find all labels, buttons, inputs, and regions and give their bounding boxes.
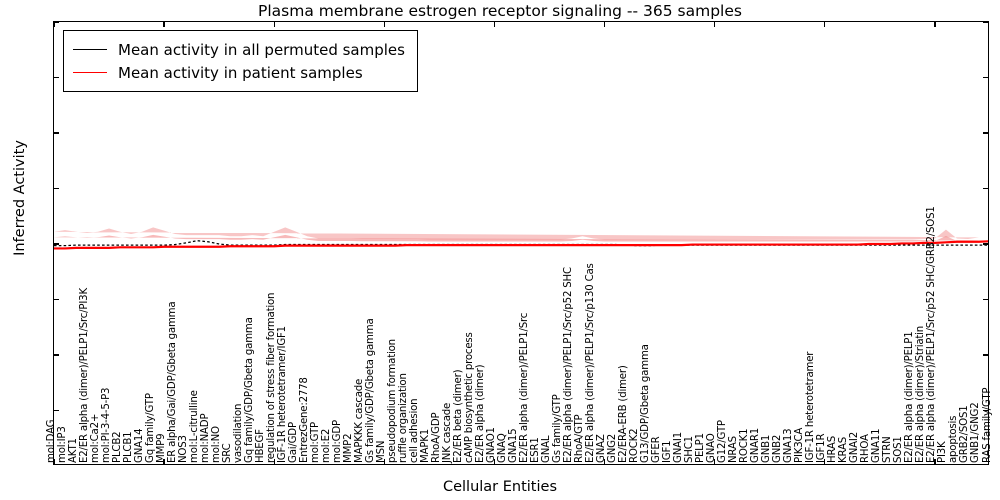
plot-axes: Mean activity in all permuted samples Me… — [53, 21, 989, 465]
page-title: Plasma membrane estrogen receptor signal… — [0, 2, 1000, 20]
x-axis-label: Cellular Entities — [0, 479, 1000, 495]
legend-swatch-patient — [73, 72, 107, 73]
legend-item: Mean activity in all permuted samples — [73, 38, 405, 61]
legend: Mean activity in all permuted samples Me… — [63, 30, 418, 92]
legend-swatch-permuted — [73, 49, 107, 50]
figure-canvas: Plasma membrane estrogen receptor signal… — [0, 0, 1000, 500]
legend-item: Mean activity in patient samples — [73, 61, 405, 84]
series-line-patient — [54, 241, 989, 248]
legend-label-permuted: Mean activity in all permuted samples — [118, 41, 405, 59]
confidence-band-outer — [54, 227, 979, 239]
legend-label-patient: Mean activity in patient samples — [118, 64, 363, 82]
y-axis-label: Inferred Activity — [12, 98, 28, 298]
